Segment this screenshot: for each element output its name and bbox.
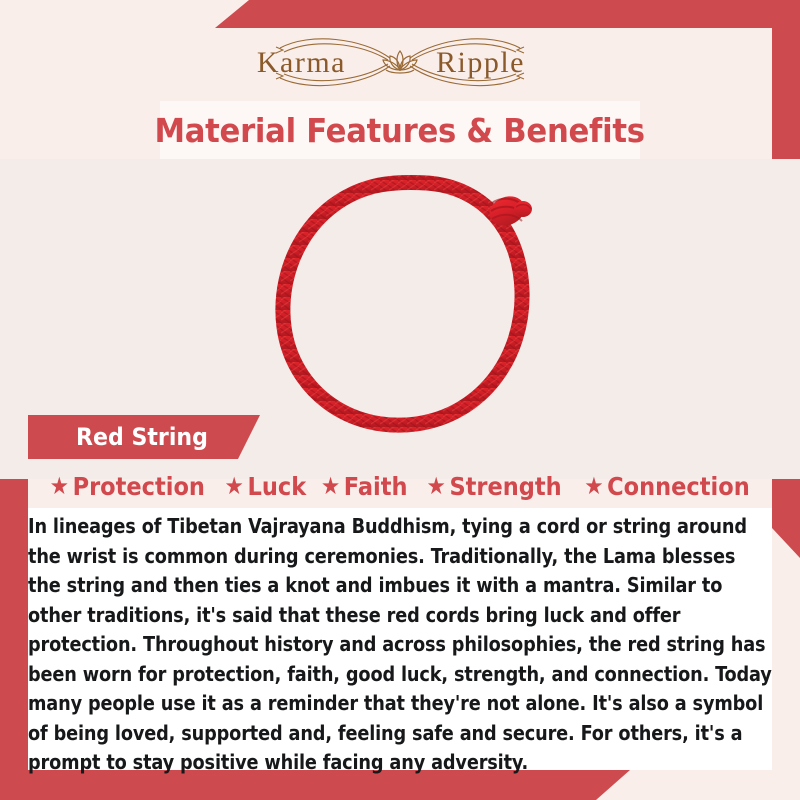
star-icon: ★ <box>50 474 69 498</box>
benefit-label: Luck <box>247 472 306 501</box>
benefit-label: Faith <box>344 472 408 501</box>
decorative-band-top <box>215 0 800 28</box>
description-text: In lineages of Tibetan Vajrayana Buddhis… <box>28 512 772 778</box>
title-banner: Material Features & Benefits <box>160 101 640 159</box>
infographic-page: Karma Ripple Material Features & Benefit… <box>0 0 800 800</box>
bracelet-braid-texture <box>283 182 522 425</box>
red-cord-bracelet-image <box>236 167 566 467</box>
benefit-item: ★ Protection <box>50 472 205 501</box>
page-title: Material Features & Benefits <box>155 111 645 150</box>
material-ribbon: Red String <box>28 415 260 459</box>
benefit-label: Strength <box>449 472 561 501</box>
star-icon: ★ <box>321 474 340 498</box>
description-panel: In lineages of Tibetan Vajrayana Buddhis… <box>28 508 772 770</box>
star-icon: ★ <box>584 474 603 498</box>
benefit-item: ★ Faith <box>321 472 408 501</box>
lotus-icon <box>383 51 417 73</box>
brand-name-right: Ripple <box>436 46 525 79</box>
benefit-label: Protection <box>73 472 205 501</box>
karma-ripple-logo-icon: Karma Ripple <box>250 34 550 90</box>
benefit-item: ★ Connection <box>584 472 750 501</box>
benefit-label: Connection <box>607 472 750 501</box>
material-name: Red String <box>76 423 208 451</box>
star-icon: ★ <box>426 474 445 498</box>
benefit-item: ★ Strength <box>426 472 561 501</box>
benefits-row: ★ Protection ★ Luck ★ Faith ★ Strength ★… <box>0 466 800 506</box>
bracelet-knot <box>485 191 532 230</box>
brand-name-left: Karma <box>257 46 346 79</box>
brand-logo: Karma Ripple <box>0 34 800 90</box>
benefit-item: ★ Luck <box>224 472 306 501</box>
star-icon: ★ <box>224 474 243 498</box>
